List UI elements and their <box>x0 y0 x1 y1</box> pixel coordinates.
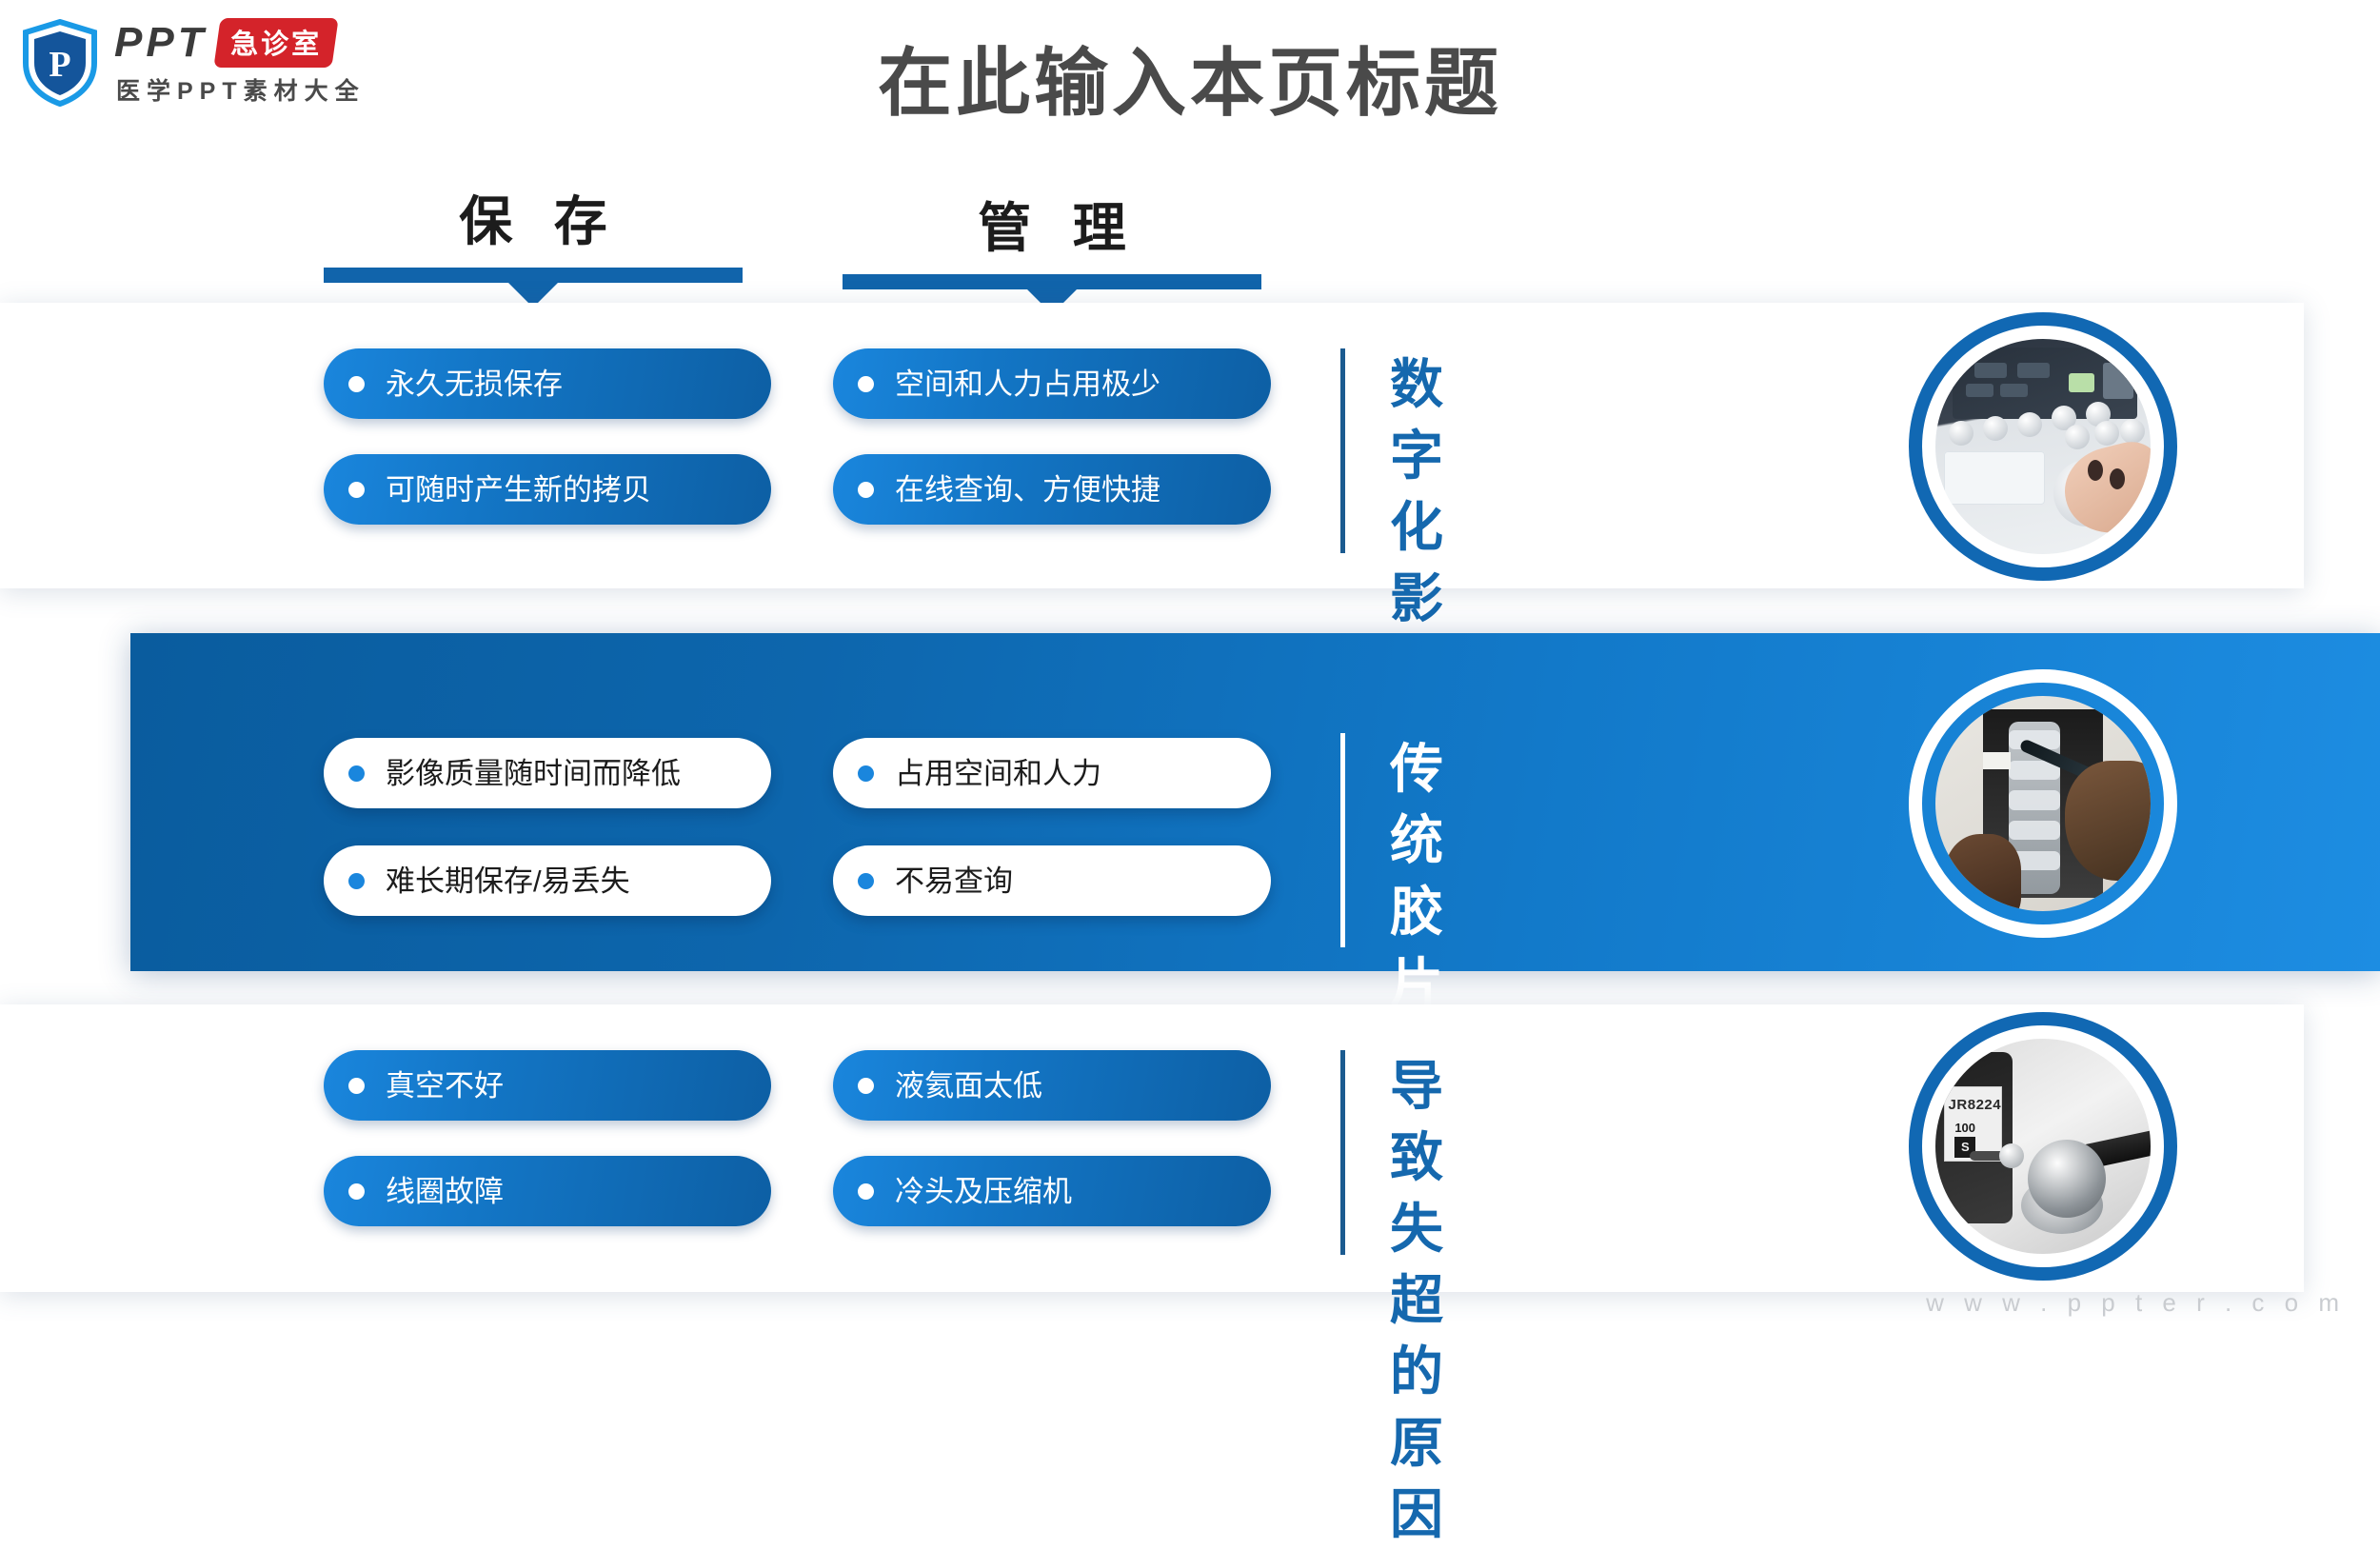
row-3-photo: JR8224 100S <box>1909 1012 2177 1281</box>
pill-r3c1a[interactable]: 真空不好 <box>324 1050 771 1121</box>
pill-r3c1b[interactable]: 线圈故障 <box>324 1156 771 1226</box>
row-3-photo-image: JR8224 100S <box>1935 1039 2151 1254</box>
pill-label: 线圈故障 <box>386 1177 504 1206</box>
photo3-box-number: 100 <box>1954 1121 1975 1135</box>
row-3-title-line1: 导致失超的 <box>1390 1056 1445 1401</box>
page-title: 在此输入本页标题 <box>0 46 2380 120</box>
pill-label: 影像质量随时间而降低 <box>386 759 681 788</box>
column-header-save: 保 存 <box>324 195 743 283</box>
column-header-manage-underline <box>843 274 1261 289</box>
row-1-title-rule <box>1340 348 1345 553</box>
site-watermark: w w w . p p t e r . c o m <box>1926 1288 2346 1318</box>
row-2-title-rule <box>1340 733 1345 947</box>
column-header-save-underline <box>324 268 743 283</box>
row-2-photo <box>1909 669 2177 938</box>
bullet-dot-icon <box>858 376 874 392</box>
pill-label: 永久无损保存 <box>386 369 563 399</box>
pill-r2c2a[interactable]: 占用空间和人力 <box>833 738 1271 808</box>
row-2-photo-image <box>1935 696 2151 911</box>
pill-label: 冷头及压缩机 <box>895 1177 1072 1206</box>
bullet-dot-icon <box>858 482 874 498</box>
pill-r2c1b[interactable]: 难长期保存/易丢失 <box>324 845 771 916</box>
bullet-dot-icon <box>858 1078 874 1094</box>
photo3-box-code: JR8224 <box>1949 1097 2002 1113</box>
pill-r1c1b[interactable]: 可随时产生新的拷贝 <box>324 454 771 525</box>
pill-label: 不易查询 <box>895 866 1013 896</box>
row-1: 永久无损保存 可随时产生新的拷贝 空间和人力占用极少 在线查询、方便快捷 数字化… <box>0 303 2380 588</box>
row-3: 真空不好 线圈故障 液氦面太低 冷头及压缩机 导致失超的原因 JR8224 <box>0 1004 2380 1292</box>
bullet-dot-icon <box>348 765 365 782</box>
column-header-manage-label: 管 理 <box>843 202 1261 255</box>
bullet-dot-icon <box>348 873 365 889</box>
bullet-dot-icon <box>348 1078 365 1094</box>
pill-r1c2b[interactable]: 在线查询、方便快捷 <box>833 454 1271 525</box>
pill-label: 空间和人力占用极少 <box>895 369 1160 399</box>
row-2-title-line1: 传统胶片 <box>1390 739 1445 1013</box>
row-3-title-text: 导致失超的原因 <box>1390 1050 1445 1550</box>
bullet-dot-icon <box>348 376 365 392</box>
row-1-photo <box>1909 312 2177 581</box>
column-header-save-label: 保 存 <box>324 195 743 248</box>
pill-label: 液氦面太低 <box>895 1071 1042 1101</box>
slide-canvas: P PPT 急诊室 医学PPT素材大全 在此输入本页标题 保 存 管 理 永久无… <box>0 0 2380 1339</box>
bullet-dot-icon <box>858 873 874 889</box>
bullet-dot-icon <box>858 1183 874 1200</box>
row-3-title-rule <box>1340 1050 1345 1255</box>
pill-r3c2b[interactable]: 冷头及压缩机 <box>833 1156 1271 1226</box>
pill-r2c2b[interactable]: 不易查询 <box>833 845 1271 916</box>
row-3-title-line2: 原因 <box>1390 1413 1445 1544</box>
pill-r1c1a[interactable]: 永久无损保存 <box>324 348 771 419</box>
row-2: 影像质量随时间而降低 难长期保存/易丢失 占用空间和人力 不易查询 传统胶片存储 <box>0 633 2380 971</box>
row-1-photo-image <box>1935 339 2151 554</box>
pill-r1c2a[interactable]: 空间和人力占用极少 <box>833 348 1271 419</box>
pill-r2c1a[interactable]: 影像质量随时间而降低 <box>324 738 771 808</box>
pill-label: 难长期保存/易丢失 <box>386 866 630 896</box>
pill-label: 占用空间和人力 <box>895 759 1101 788</box>
bullet-dot-icon <box>348 482 365 498</box>
column-header-manage: 管 理 <box>843 202 1261 289</box>
pill-label: 可随时产生新的拷贝 <box>386 475 651 505</box>
pill-label: 在线查询、方便快捷 <box>895 475 1160 505</box>
pill-r3c2a[interactable]: 液氦面太低 <box>833 1050 1271 1121</box>
pill-label: 真空不好 <box>386 1071 504 1101</box>
bullet-dot-icon <box>348 1183 365 1200</box>
bullet-dot-icon <box>858 765 874 782</box>
